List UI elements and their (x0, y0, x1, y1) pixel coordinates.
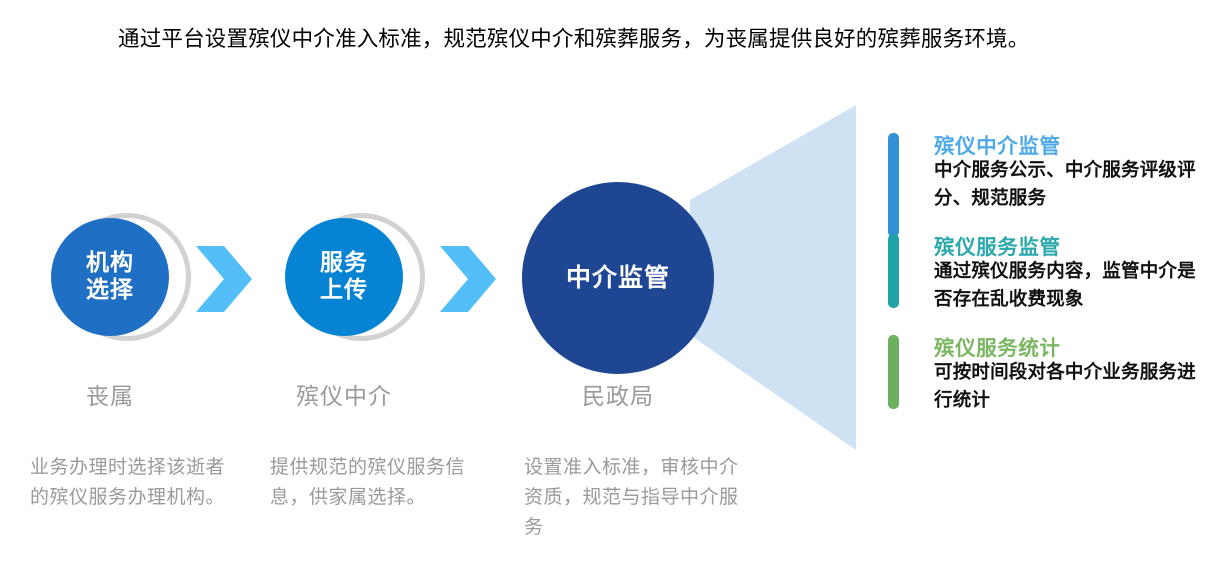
chevron-right-icon (188, 243, 260, 315)
diagram-canvas: 通过平台设置殡仪中介准入标准，规范殡仪中介和殡葬服务，为丧属提供良好的殡葬服务环… (0, 0, 1228, 575)
panel-item-3-body: 可按时间段对各中介业务服务进行统计 (934, 359, 1196, 415)
panel-item-3-accent-bar (888, 335, 899, 409)
step-2-label: 殡仪中介 (274, 377, 414, 411)
panel-item-1-accent-bar (888, 133, 899, 237)
step-3-label: 民政局 (548, 377, 688, 411)
step-2-circle-label: 服务 上传 (320, 250, 368, 304)
chevron-right-icon (432, 243, 504, 315)
panel-item-2-accent-bar (888, 234, 899, 308)
panel-item-3-heading: 殡仪服务统计 (934, 331, 1061, 361)
panel-item-1-body: 中介服务公示、中介服务评级评分、规范服务 (934, 157, 1196, 213)
panel-item-2-body: 通过殡仪服务内容，监管中介是否存在乱收费现象 (934, 258, 1196, 314)
step-3-circle[interactable]: 中介监管 (522, 182, 714, 374)
step-1-circle[interactable]: 机构 选择 (51, 218, 169, 336)
step-1-circle-label: 机构 选择 (86, 250, 134, 304)
panel-item-2-heading: 殡仪服务监管 (934, 230, 1061, 260)
step-2-description: 提供规范的殡仪服务信息，供家属选择。 (270, 452, 475, 512)
step-3-description: 设置准入标准，审核中介资质，规范与指导中介服务 (524, 452, 739, 542)
step-1-label: 丧属 (40, 377, 180, 411)
step-3-circle-label: 中介监管 (566, 263, 670, 293)
step-2-circle[interactable]: 服务 上传 (285, 218, 403, 336)
step-1-description: 业务办理时选择该逝者的殡仪服务办理机构。 (30, 452, 235, 512)
panel-item-1-heading: 殡仪中介监管 (934, 129, 1061, 159)
